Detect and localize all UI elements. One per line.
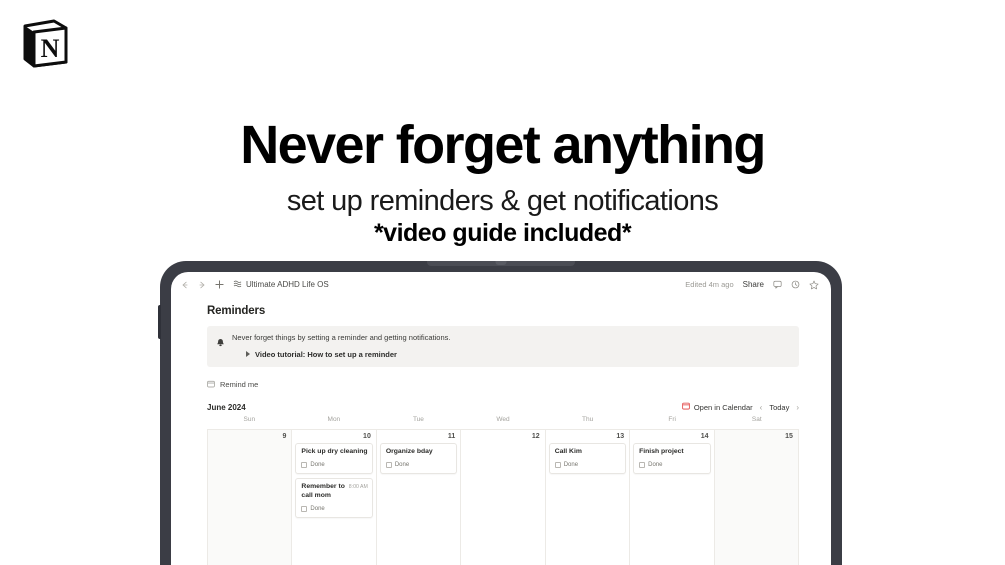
promo-page: N Never forget anything set up reminders… <box>0 0 1005 565</box>
today-button[interactable]: Today <box>769 403 789 412</box>
remind-me-label: Remind me <box>220 380 258 389</box>
calendar-red-icon <box>682 402 690 412</box>
event-card[interactable]: Organize bdayDone <box>380 443 457 474</box>
tablet-screen: Ultimate ADHD Life OS Edited 4m ago Shar… <box>171 272 831 565</box>
breadcrumb[interactable]: Ultimate ADHD Life OS <box>233 280 329 290</box>
done-label: Done <box>564 462 578 468</box>
star-icon[interactable] <box>809 280 819 290</box>
done-label: Done <box>310 506 324 512</box>
breadcrumb-label: Ultimate ADHD Life OS <box>246 280 329 289</box>
arrow-left-icon[interactable] <box>181 281 189 289</box>
calendar-day-column[interactable]: 12 <box>461 430 545 565</box>
chevron-left-icon[interactable]: ‹ <box>760 403 763 412</box>
bell-icon <box>216 334 225 359</box>
clock-icon[interactable] <box>791 280 800 289</box>
day-number: 12 <box>464 433 541 443</box>
done-label: Done <box>395 462 409 468</box>
calendar-grid: 910Pick up dry cleaningDoneRemember to c… <box>207 429 799 565</box>
done-checkbox-row[interactable]: Done <box>301 506 367 512</box>
calendar-day-column[interactable]: 11Organize bdayDone <box>377 430 461 565</box>
calendar-header: June 2024 Open in Calendar ‹ Today › <box>207 399 799 416</box>
calendar-month-label: June 2024 <box>207 403 246 412</box>
comment-icon[interactable] <box>773 280 782 289</box>
done-checkbox-row[interactable]: Done <box>639 462 705 468</box>
volume-button[interactable] <box>158 305 161 339</box>
calendar-day-column[interactable]: 9 <box>208 430 292 565</box>
event-card[interactable]: Pick up dry cleaningDone <box>295 443 372 474</box>
event-card[interactable]: Finish projectDone <box>633 443 710 474</box>
hero-block: Never forget anything set up reminders &… <box>0 118 1005 247</box>
svg-text:N: N <box>41 34 60 63</box>
document-title: Reminders <box>207 305 799 317</box>
done-label: Done <box>648 462 662 468</box>
done-checkbox-row[interactable]: Done <box>386 462 452 468</box>
dow-label: Thu <box>545 416 630 429</box>
video-tutorial-toggle[interactable]: Video tutorial: How to set up a reminder <box>232 350 790 359</box>
calendar-day-column[interactable]: 13Call KimDone <box>546 430 630 565</box>
callout-block: Never forget things by setting a reminde… <box>207 326 799 367</box>
hero-subtitle-2: *video guide included* <box>0 220 1005 246</box>
done-checkbox-row[interactable]: Done <box>301 462 367 468</box>
open-in-calendar-label: Open in Calendar <box>694 403 753 412</box>
remind-me-row[interactable]: Remind me <box>207 380 799 390</box>
day-number: 14 <box>633 433 710 443</box>
calendar-view: June 2024 Open in Calendar ‹ Today › <box>207 399 799 565</box>
callout-text: Never forget things by setting a reminde… <box>232 333 790 343</box>
share-button[interactable]: Share <box>743 280 764 289</box>
calendar-day-column[interactable]: 14Finish projectDone <box>630 430 714 565</box>
tablet-device: Ultimate ADHD Life OS Edited 4m ago Shar… <box>160 261 842 565</box>
notion-cube-icon: N <box>20 17 70 69</box>
calendar-day-column[interactable]: 10Pick up dry cleaningDoneRemember to ca… <box>292 430 376 565</box>
arrow-right-icon[interactable] <box>198 281 206 289</box>
notion-topbar: Ultimate ADHD Life OS Edited 4m ago Shar… <box>171 272 831 297</box>
dow-label: Sat <box>714 416 799 429</box>
event-card[interactable]: Call KimDone <box>549 443 626 474</box>
device-notch <box>427 261 575 266</box>
camera-dot-icon <box>496 261 507 265</box>
checkbox-icon[interactable] <box>555 462 561 468</box>
event-title: Pick up dry cleaning <box>301 448 367 456</box>
event-title: Remember to call mom <box>301 483 345 500</box>
event-card[interactable]: Remember to call mom8:00 AMDone <box>295 478 372 518</box>
chevron-right-icon[interactable] <box>246 351 250 357</box>
open-in-calendar-button[interactable]: Open in Calendar <box>682 402 753 412</box>
event-title: Finish project <box>639 448 705 456</box>
done-checkbox-row[interactable]: Done <box>555 462 621 468</box>
dow-label: Sun <box>207 416 292 429</box>
event-title: Call Kim <box>555 448 621 456</box>
edited-status: Edited 4m ago <box>685 280 733 289</box>
dow-label: Tue <box>376 416 461 429</box>
dow-label: Mon <box>292 416 377 429</box>
page-emoji-icon <box>233 280 242 290</box>
dow-label: Wed <box>461 416 546 429</box>
event-time: 8:00 AM <box>349 484 368 490</box>
chevron-right-icon[interactable]: › <box>796 403 799 412</box>
day-number: 15 <box>718 433 795 443</box>
checkbox-icon[interactable] <box>301 462 307 468</box>
day-number: 11 <box>380 433 457 443</box>
page-title: Never forget anything <box>0 118 1005 172</box>
day-number: 13 <box>549 433 626 443</box>
dow-label: Fri <box>630 416 715 429</box>
toggle-label: Video tutorial: How to set up a reminder <box>255 350 397 359</box>
notion-document: Reminders Never forget things by setting… <box>171 297 831 565</box>
notion-logo: N <box>20 17 70 69</box>
checkbox-icon[interactable] <box>639 462 645 468</box>
day-number: 9 <box>211 433 288 443</box>
checkbox-icon[interactable] <box>386 462 392 468</box>
hero-subtitle: set up reminders & get notifications <box>0 186 1005 216</box>
day-number: 10 <box>295 433 372 443</box>
plus-icon[interactable] <box>215 280 224 289</box>
done-label: Done <box>310 462 324 468</box>
calendar-dow-row: Sun Mon Tue Wed Thu Fri Sat <box>207 416 799 429</box>
calendar-day-column[interactable]: 15 <box>715 430 799 565</box>
calendar-icon <box>207 380 215 390</box>
checkbox-icon[interactable] <box>301 506 307 512</box>
event-title: Organize bday <box>386 448 452 456</box>
